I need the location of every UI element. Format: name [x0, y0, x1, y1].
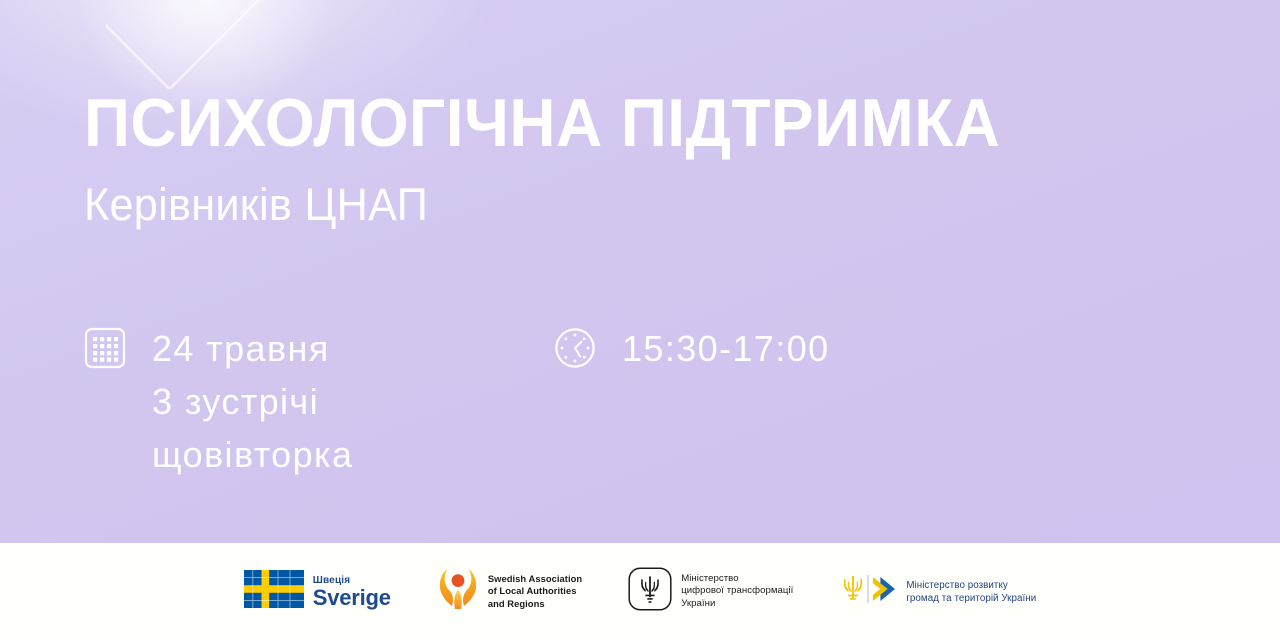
chevron-decoration-icon: [104, 0, 309, 91]
event-time-block: 15:30-17:00: [554, 322, 830, 375]
logo-ministry-development-text: Міністерство розвитку громад та територі…: [906, 579, 1036, 605]
logo-minregion-line-1: Міністерство розвитку: [906, 579, 1036, 592]
logo-mintsyfra-line-1: Міністерство: [681, 573, 793, 586]
logo-mintsyfra-line-3: України: [681, 598, 793, 611]
logo-ministry-digital-transformation: Міністерство цифрової трансформації Укра…: [628, 567, 793, 616]
logo-ministry-digital-text: Міністерство цифрової трансформації Укра…: [681, 573, 793, 611]
logo-strip: Швеція Sverige: [244, 566, 1037, 617]
event-recurrence-line: щовівторка: [152, 428, 353, 481]
headline-block: ПСИХОЛОГІЧНА ПІДТРИМКА Керівників ЦНАП: [84, 86, 1184, 230]
logo-swedish-association: Swedish Association of Local Authorities…: [437, 566, 582, 617]
logo-salar-line-1: Swedish Association: [488, 573, 582, 585]
partner-logo-footer: Швеція Sverige: [0, 543, 1280, 640]
swedish-flag-icon: [244, 570, 304, 613]
page-title: ПСИХОЛОГІЧНА ПІДТРИМКА: [84, 86, 1118, 160]
poster-canvas: ПСИХОЛОГІЧНА ПІДТРИМКА Керівників ЦНАП: [0, 0, 1280, 640]
logo-sweden-label-uk: Швеція: [313, 575, 391, 586]
salar-figure-icon: [437, 566, 479, 617]
ukraine-trident-square-icon: [628, 567, 672, 616]
logo-ministry-development-communities: Міністерство розвитку громад та територі…: [839, 568, 1036, 615]
event-date-line: 24 травня: [152, 322, 353, 375]
logo-salar-line-2: of Local Authorities: [488, 585, 582, 597]
logo-salar-line-3: and Regions: [488, 598, 582, 610]
event-sessions-line: 3 зустрічі: [152, 375, 353, 428]
event-date-block: 24 травня 3 зустрічі щовівторка: [84, 322, 554, 481]
event-time-lines: 15:30-17:00: [622, 322, 830, 375]
logo-sweden-label-sv: Sverige: [313, 586, 391, 609]
clock-icon: [554, 327, 596, 369]
logo-swedish-association-text: Swedish Association of Local Authorities…: [488, 573, 582, 610]
page-subtitle: Керівників ЦНАП: [84, 180, 1140, 230]
event-details: 24 травня 3 зустрічі щовівторка: [84, 322, 1184, 481]
logo-sweden-sverige: Швеція Sverige: [244, 570, 391, 613]
logo-sweden-text: Швеція Sverige: [313, 575, 391, 609]
event-time-line: 15:30-17:00: [622, 322, 830, 375]
trident-chevron-icon: [839, 568, 897, 615]
calendar-icon: [84, 327, 126, 369]
logo-mintsyfra-line-2: цифрової трансформації: [681, 585, 793, 598]
logo-minregion-line-2: громад та територій України: [906, 592, 1036, 605]
event-date-lines: 24 травня 3 зустрічі щовівторка: [152, 322, 353, 481]
